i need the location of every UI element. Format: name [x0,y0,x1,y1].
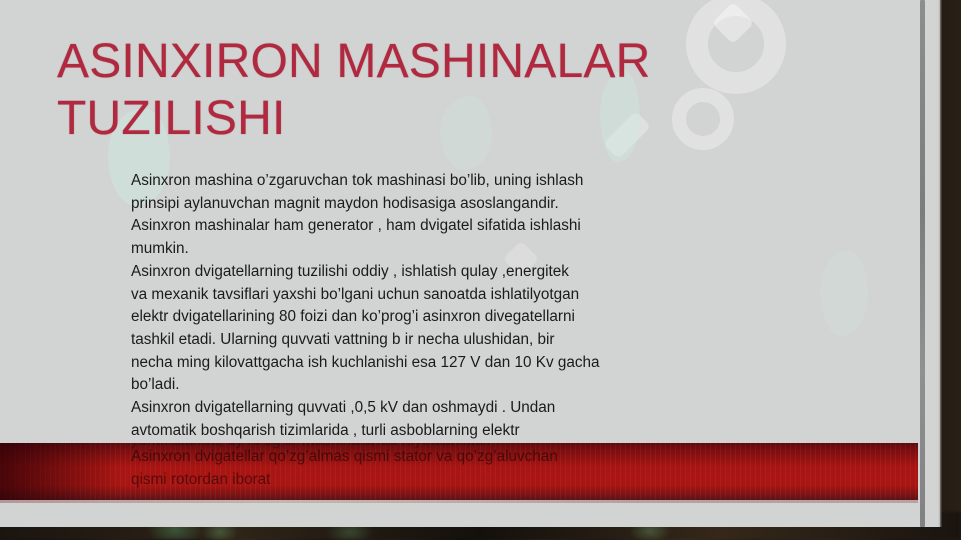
slide-edge-seam [938,0,942,527]
banner-obscured-text: Asinxron dvigatellar qo’zg’almas qismi s… [131,446,791,491]
slide-surface: ASINXIRON MASHINALAR TUZILISHI Asinxron … [0,0,940,527]
slide-bottom-gutter [0,500,940,527]
red-highlight-banner: yuritmalarida, uy ro’zg’or mashinalarida… [0,443,940,500]
presentation-viewport: ASINXIRON MASHINALAR TUZILISHI Asinxron … [0,0,961,540]
scrollbar-thumb[interactable] [920,0,925,527]
slide-body-text: Asinxron mashina o’zgaruvchan tok mashin… [131,170,791,442]
slide-title: ASINXIRON MASHINALAR TUZILISHI [57,33,817,147]
body-paragraphs: Asinxron mashina o’zgaruvchan tok mashin… [131,170,791,442]
watermark-leaf-icon [820,250,868,336]
vertical-scrollbar[interactable] [918,0,940,527]
